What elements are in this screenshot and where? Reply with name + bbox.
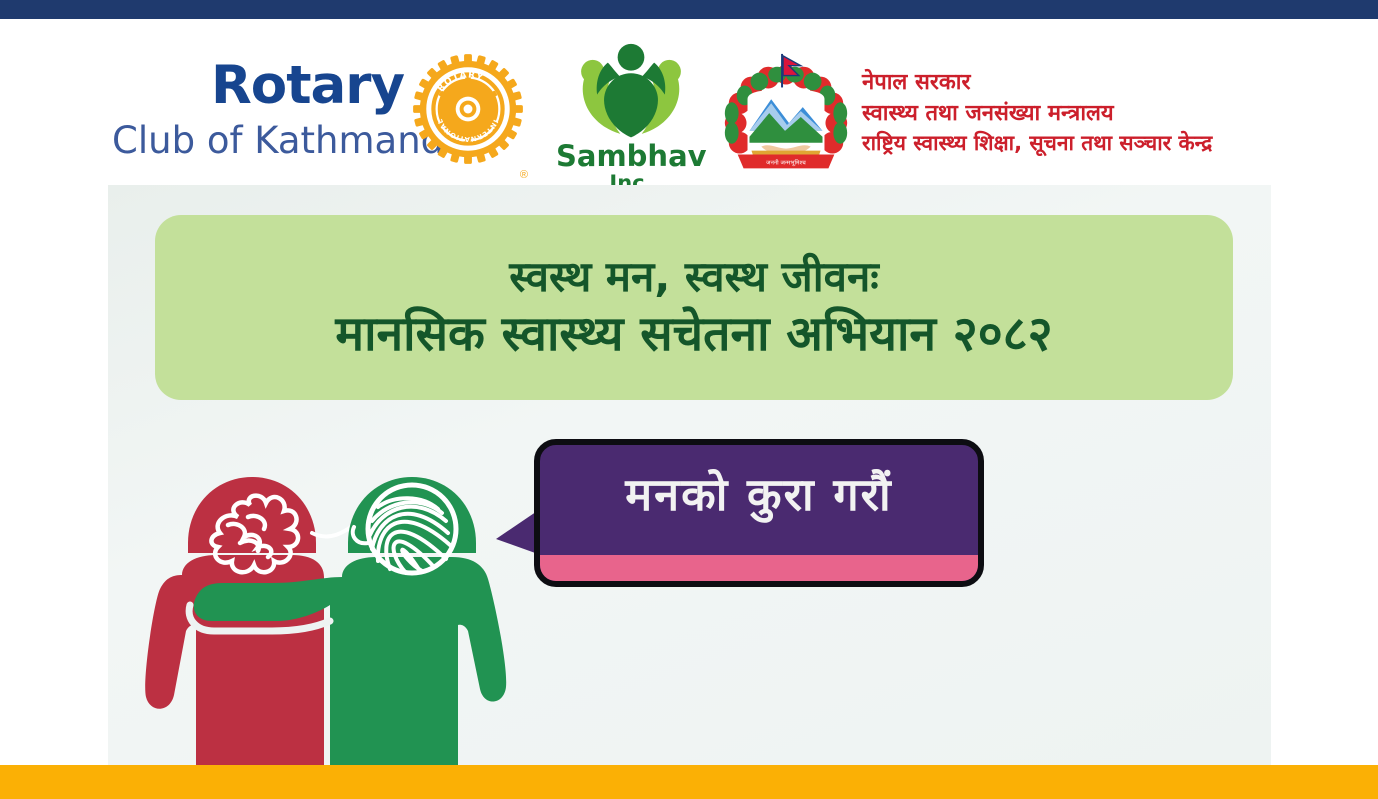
speech-bubble: मनको कुरा गरौं (494, 435, 954, 595)
poster-slide: Rotary Club of Kathmandu (0, 0, 1378, 799)
nepal-government-logo: जननी जन्मभूमिश्च नेपाल सरकार स्वास्थ्य त… (712, 43, 1292, 199)
sambhav-wordmark: Sambhav (556, 142, 706, 172)
campaign-title-line-2: मानसिक स्वास्थ्य सचेतना अभियान २०८२ (335, 304, 1052, 364)
speech-bubble-accent-strip (540, 555, 978, 581)
government-line-1: नेपाल सरकार (862, 67, 1292, 98)
government-text-block: नेपाल सरकार स्वास्थ्य तथा जनसंख्या मन्त्… (862, 67, 1292, 159)
government-line-2: स्वास्थ्य तथा जनसंख्या मन्त्रालय (862, 98, 1292, 129)
emblem-motto-text: जननी जन्मभूमिश्च (766, 158, 806, 166)
sambhav-people-icon (567, 43, 695, 141)
content-panel: स्वस्थ मन, स्वस्थ जीवनः मानसिक स्वास्थ्य… (108, 185, 1271, 765)
registered-trademark-icon: ® (520, 169, 528, 181)
government-line-3: राष्ट्रिय स्वास्थ्य शिक्षा, सूचना तथा सञ… (862, 129, 1292, 159)
header-logo-strip: Rotary Club of Kathmandu (0, 19, 1378, 185)
campaign-title-banner: स्वस्थ मन, स्वस्थ जीवनः मानसिक स्वास्थ्य… (155, 215, 1233, 400)
nepal-emblem-icon: जननी जन्मभूमिश्च (712, 51, 860, 191)
speech-bubble-text: मनको कुरा गरौं (540, 463, 978, 524)
rotary-logo: Rotary Club of Kathmandu (112, 51, 532, 191)
rotary-wordmark: Rotary (211, 55, 404, 116)
sambhav-logo: Sambhav Inc. (556, 43, 706, 203)
two-figures-illustration (116, 425, 546, 765)
bottom-accent-bar (0, 765, 1378, 799)
rotary-wheel-icon: ROTARY INTERNATIONAL (412, 53, 524, 165)
top-accent-bar (0, 0, 1378, 19)
speech-bubble-body: मनको कुरा गरौं (534, 439, 984, 587)
campaign-title-line-1: स्वस्थ मन, स्वस्थ जीवनः (509, 251, 879, 304)
